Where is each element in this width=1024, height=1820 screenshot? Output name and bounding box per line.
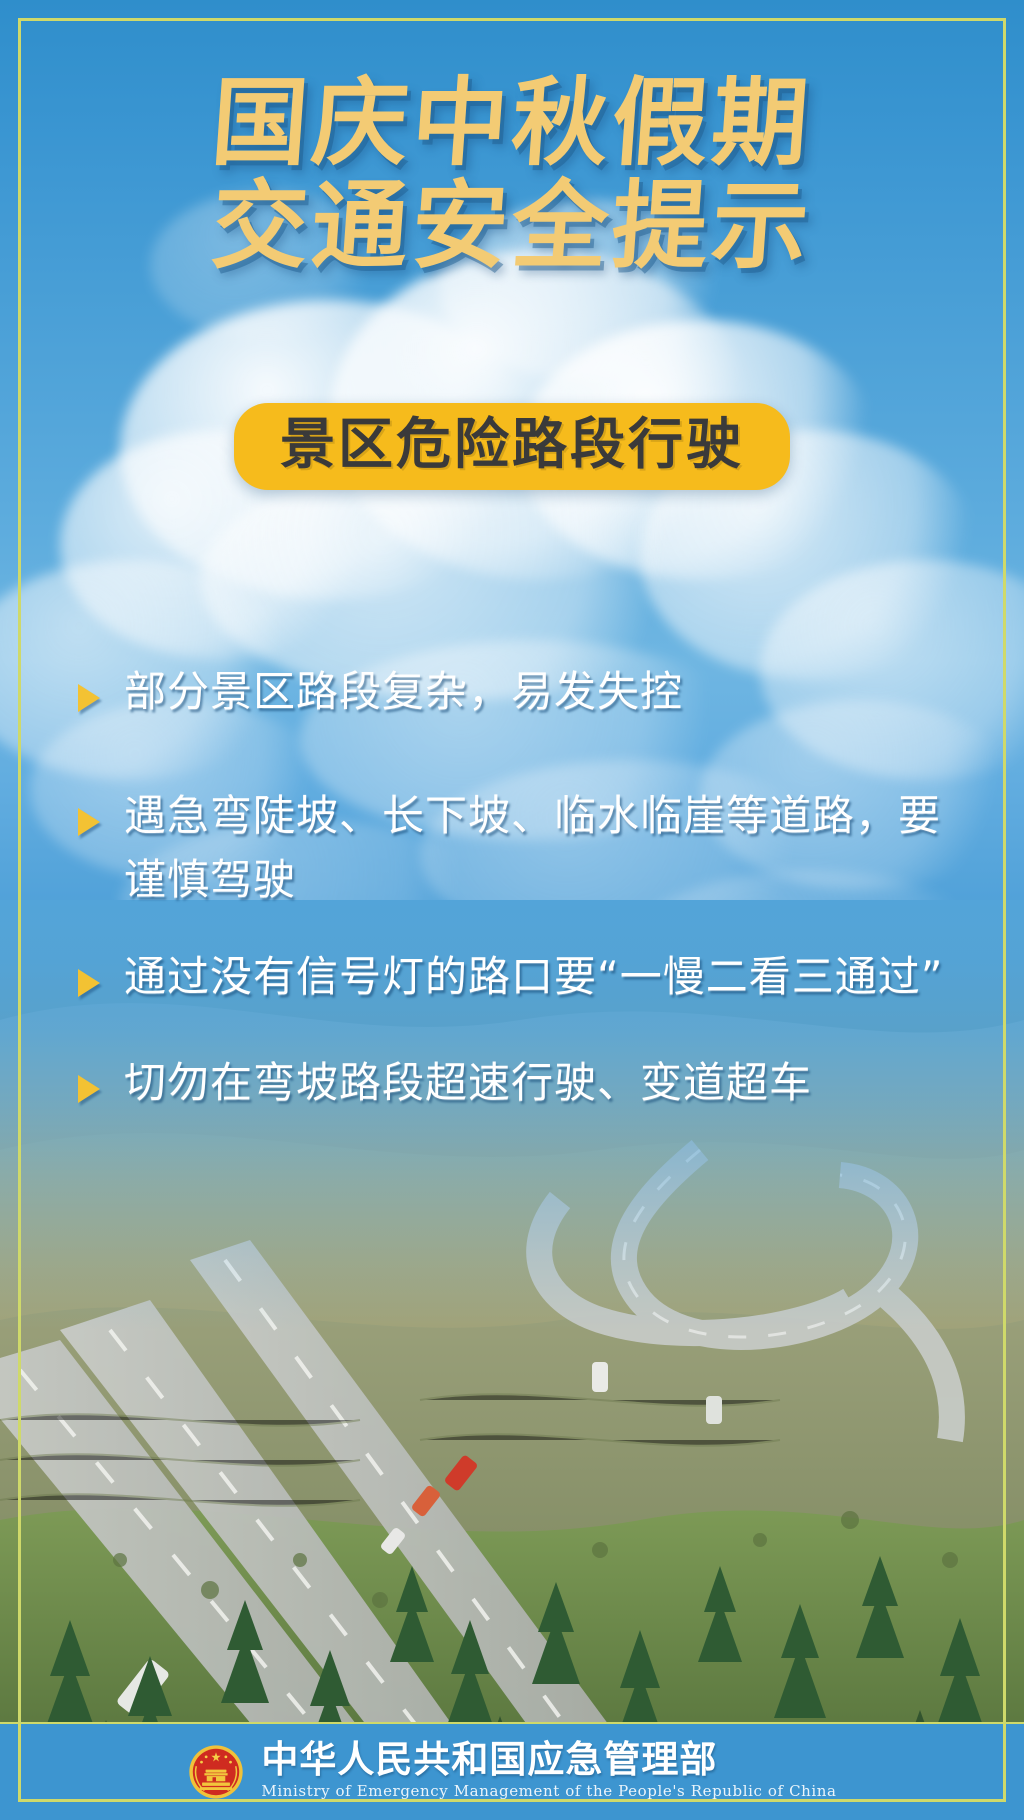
triangle-right-icon (78, 806, 106, 836)
section-banner-label: 景区危险路段行驶 (280, 417, 744, 472)
bullet-text: 通过没有信号灯的路口要“一慢二看三通过” (80, 945, 944, 1009)
section-banner: 景区危险路段行驶 (234, 403, 790, 490)
triangle-right-icon (78, 1073, 106, 1103)
list-item: 切勿在弯坡路段超速行驶、变道超车 (0, 1051, 1024, 1115)
footer-org-cn: 中华人民共和国应急管理部 (261, 1741, 836, 1780)
footer-org-en: Ministry of Emergency Management of the … (261, 1779, 836, 1803)
list-item: 遇急弯陡坡、长下坡、临水临崖等道路，要谨慎驾驶 (0, 784, 1024, 912)
poster-content: 国庆中秋假期 交通安全提示 景区危险路段行驶 部分景区路段复杂，易发失控 遇急弯… (0, 0, 1024, 1820)
poster-root: 国庆中秋假期 交通安全提示 景区危险路段行驶 部分景区路段复杂，易发失控 遇急弯… (0, 0, 1024, 1820)
bullet-text: 遇急弯陡坡、长下坡、临水临崖等道路，要谨慎驾驶 (80, 784, 966, 912)
list-item: 部分景区路段复杂，易发失控 (0, 660, 1024, 724)
headline-line-2: 交通安全提示 (0, 175, 1024, 278)
china-national-emblem-icon (187, 1743, 245, 1801)
footer-bar: 中华人民共和国应急管理部 Ministry of Emergency Manag… (0, 1722, 1024, 1820)
list-item: 通过没有信号灯的路口要“一慢二看三通过” (0, 945, 1024, 1009)
poster-headline: 国庆中秋假期 交通安全提示 (0, 72, 1024, 277)
triangle-right-icon (78, 682, 106, 712)
headline-line-1: 国庆中秋假期 (0, 72, 1024, 175)
section-banner-wrapper: 景区危险路段行驶 (0, 403, 1024, 490)
footer-text-block: 中华人民共和国应急管理部 Ministry of Emergency Manag… (261, 1741, 836, 1804)
bullet-text: 切勿在弯坡路段超速行驶、变道超车 (124, 1051, 812, 1115)
bullet-text: 部分景区路段复杂，易发失控 (124, 660, 683, 724)
bullet-list: 部分景区路段复杂，易发失控 遇急弯陡坡、长下坡、临水临崖等道路，要谨慎驾驶 通过… (0, 660, 1024, 1167)
triangle-right-icon (78, 967, 106, 997)
